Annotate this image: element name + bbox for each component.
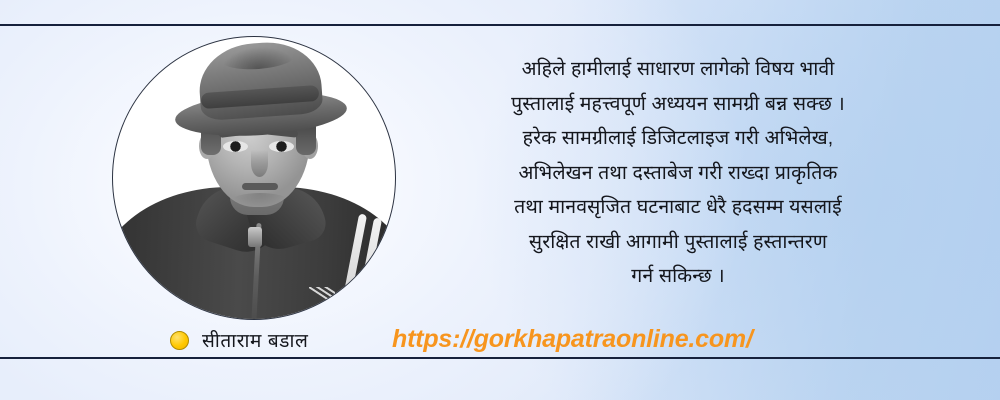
quote-line: अहिले हामीलाई साधारण लागेको विषय भावी	[418, 52, 938, 87]
nose-shape	[251, 150, 268, 177]
quote-text: अहिले हामीलाई साधारण लागेको विषय भावी पु…	[418, 52, 938, 294]
jacket-zipper-pull	[248, 227, 262, 247]
quote-line: गर्न सकिन्छ ।	[418, 259, 938, 294]
quote-line: तथा मानवसृजित घटनाबाट धेरै हदसम्म यसलाई	[418, 190, 938, 225]
portrait-photo	[112, 36, 396, 320]
quote-line: अभिलेखन तथा दस्ताबेज गरी राख्दा प्राकृति…	[418, 156, 938, 191]
site-url[interactable]: https://gorkhapatraonline.com/	[392, 325, 753, 354]
eye-right	[269, 141, 294, 152]
bottom-divider-rule	[0, 357, 1000, 359]
byline: सीताराम बडाल	[170, 327, 308, 353]
quote-card: अहिले हामीलाई साधारण लागेको विषय भावी पु…	[0, 0, 1000, 400]
jacket-logo-icon	[309, 287, 335, 304]
top-divider-rule	[0, 24, 1000, 26]
bullet-dot-icon	[170, 331, 189, 350]
author-name: सीताराम बडाल	[202, 327, 308, 353]
quote-line: हरेक सामग्रीलाई डिजिटलाइज गरी अभिलेख,	[418, 121, 938, 156]
mouth-shape	[242, 183, 278, 190]
quote-line: सुरक्षित राखी आगामी पुस्तालाई हस्तान्तरण	[418, 225, 938, 260]
chin-shadow	[231, 193, 289, 209]
portrait-image	[113, 37, 395, 319]
eye-left	[223, 141, 248, 152]
quote-line: पुस्तालाई महत्त्वपूर्ण अध्ययन सामग्री बन…	[418, 87, 938, 122]
